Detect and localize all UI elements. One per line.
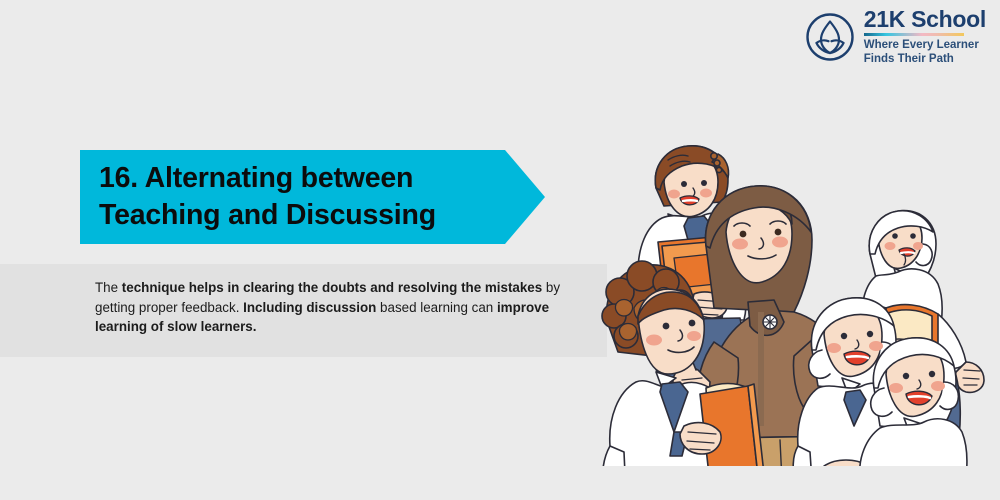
lotus-in-circle-icon [805, 12, 855, 62]
description-segment-4: based learning can [376, 300, 497, 315]
teacher-discussing-with-students-illustration [598, 126, 1000, 466]
tagline-line-1: Where Every Learner [864, 39, 986, 53]
brand-logo: 21K School Where Every Learner Finds The… [805, 8, 986, 66]
description-text: The technique helps in clearing the doub… [95, 278, 587, 337]
description-segment-0: The [95, 280, 122, 295]
description-segment-1: technique helps in clearing the doubts a… [122, 280, 542, 295]
logo-wordmark: 21K School Where Every Learner Finds The… [864, 8, 986, 66]
brand-gradient-rule [864, 33, 964, 36]
page-title: 16. Alternating between Teaching and Dis… [80, 160, 496, 235]
title-arrow-banner: 16. Alternating between Teaching and Dis… [80, 150, 545, 244]
brand-name: 21K School [864, 8, 986, 31]
slide-canvas: 21K School Where Every Learner Finds The… [0, 0, 1000, 500]
description-segment-3: Including discussion [243, 300, 376, 315]
tagline-line-2: Finds Their Path [864, 53, 986, 67]
